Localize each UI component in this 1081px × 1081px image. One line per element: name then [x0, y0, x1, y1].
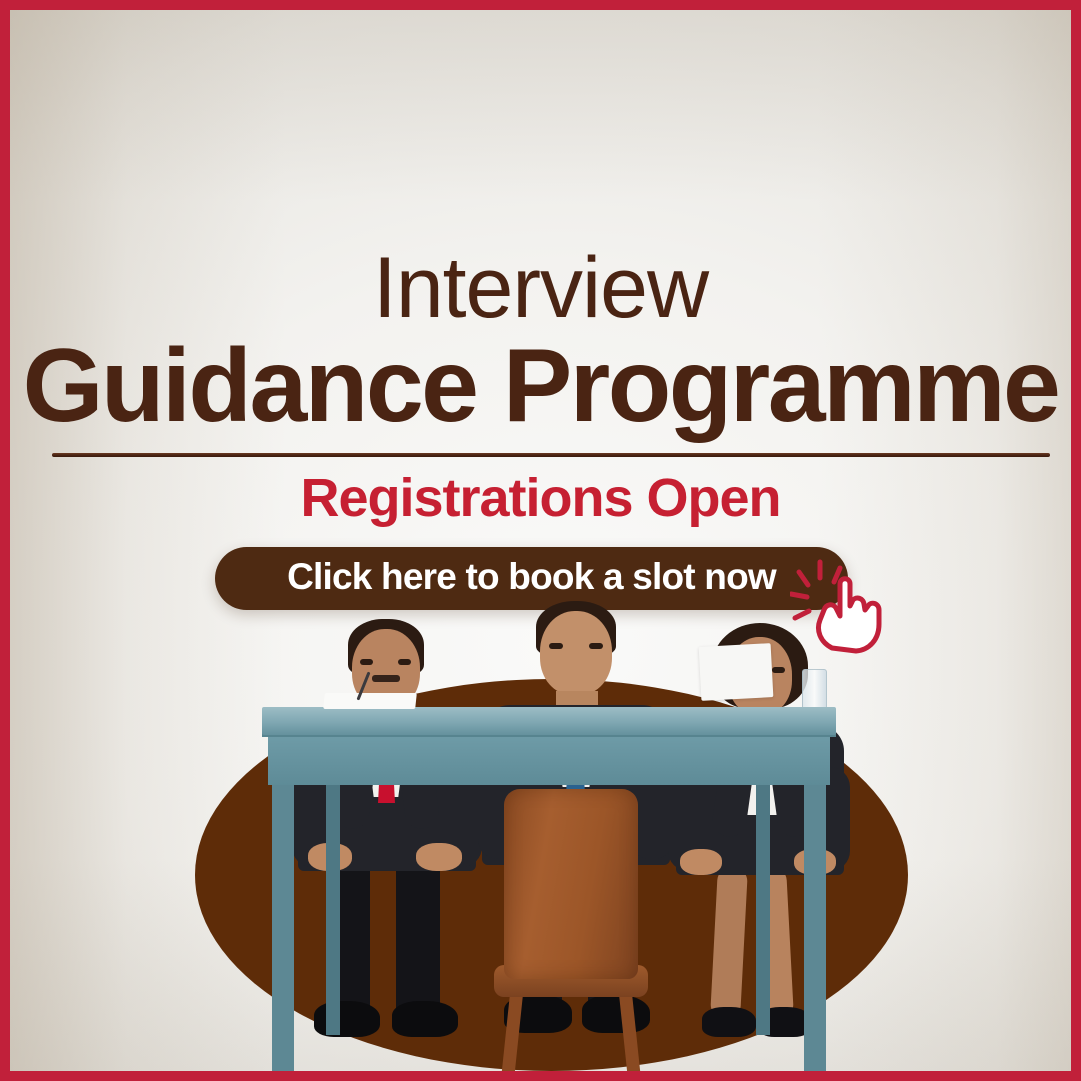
- heading-divider: [52, 453, 1050, 457]
- interviewee-chair: [494, 789, 648, 1071]
- desk-surface: [262, 707, 836, 735]
- interview-panel-scene: [10, 611, 1071, 1071]
- heading-block: Interview Guidance Programme: [10, 246, 1071, 438]
- subheading-registrations-open: Registrations Open: [10, 467, 1071, 529]
- desk-apron: [268, 733, 830, 785]
- document-sheet: [699, 643, 774, 701]
- paper-sheet: [323, 693, 417, 709]
- book-slot-button-label: Click here to book a slot now: [287, 556, 776, 601]
- heading-line-2: Guidance Programme: [10, 334, 1071, 438]
- promo-banner: Interview Guidance Programme Registratio…: [0, 0, 1081, 1081]
- heading-line-1: Interview: [10, 246, 1071, 330]
